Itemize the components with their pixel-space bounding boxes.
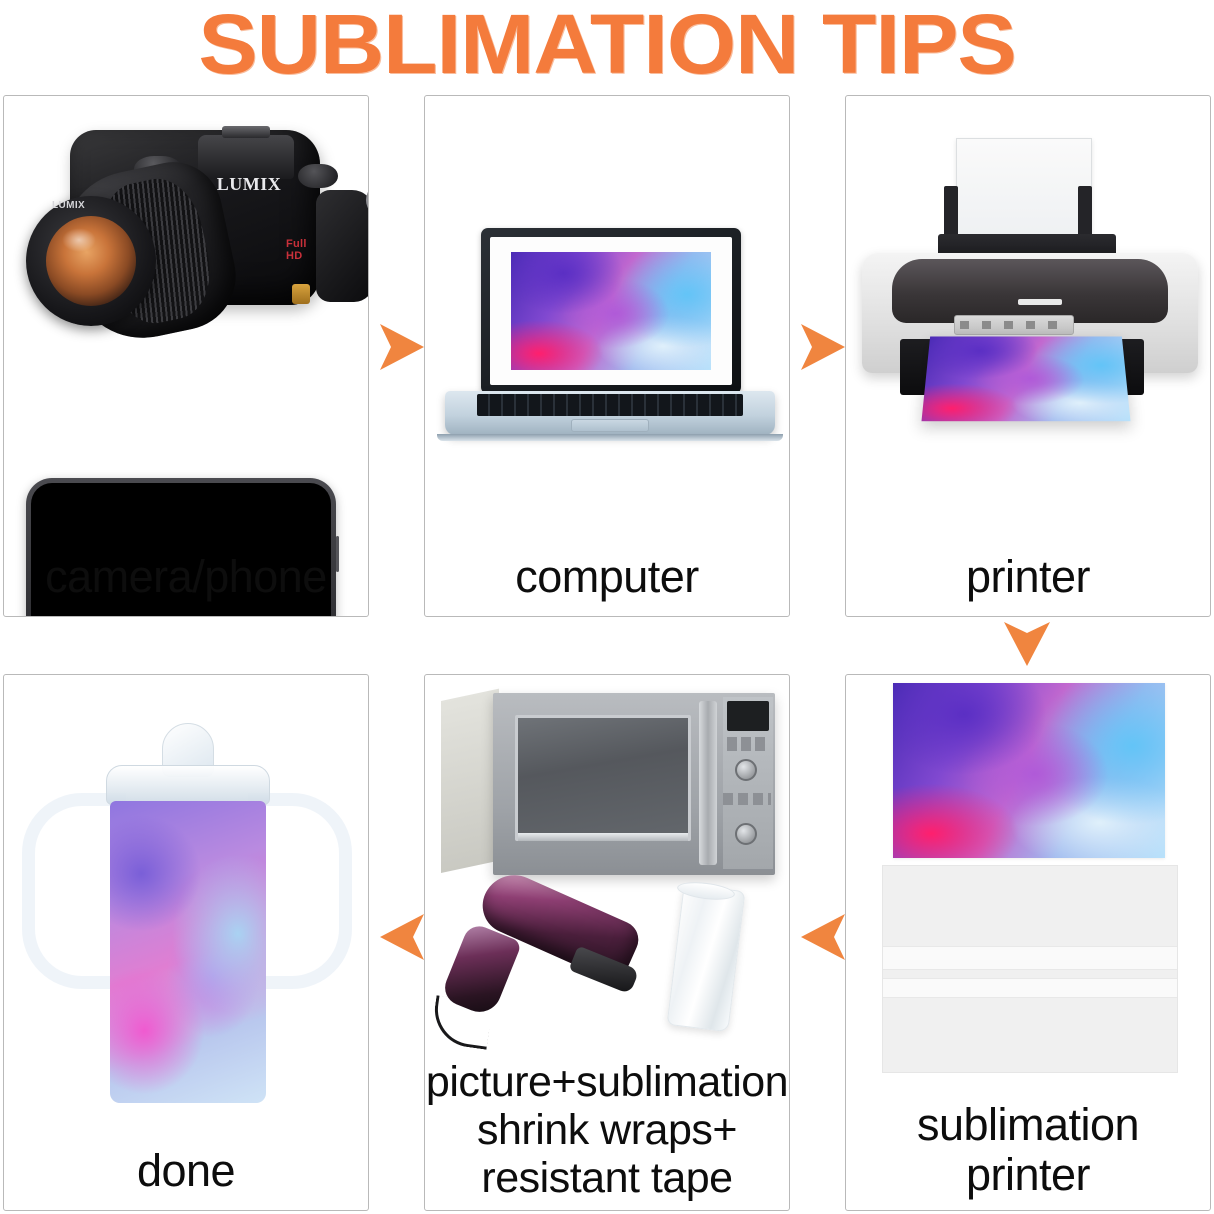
caption-supplies-line-1: picture+sublimation	[425, 1058, 789, 1106]
camera-hotshoe	[222, 126, 270, 138]
shrink-wrap-sleeve	[667, 884, 746, 1032]
step-panel-computer: computer	[424, 95, 790, 617]
camera-lens: LUMIX	[22, 166, 232, 348]
caption-printer: printer	[846, 552, 1210, 602]
microwave-side	[441, 689, 499, 873]
arrow-right-icon	[799, 320, 847, 374]
microwave-keypad-top	[727, 737, 769, 751]
caption-supplies: picture+sublimation shrink wraps+ resist…	[425, 1058, 789, 1202]
caption-supplies-line-2: shrink wraps+	[425, 1106, 789, 1154]
lens-front-element-housing: LUMIX	[26, 196, 156, 326]
laptop-illustration	[435, 228, 781, 468]
step-panel-done: done	[3, 674, 369, 1211]
flow-arrow-right-1	[378, 320, 426, 374]
hair-dryer-cord	[430, 995, 493, 1049]
caption-sublimation-line-1: sublimation	[846, 1100, 1210, 1150]
sippy-cup-illustration	[16, 723, 358, 1123]
step-panel-supplies: picture+sublimation shrink wraps+ resist…	[424, 674, 790, 1211]
laptop-front-edge	[437, 434, 783, 441]
cup-body	[110, 801, 266, 1103]
printer-control-buttons	[960, 321, 1068, 329]
arrow-left-icon	[378, 910, 426, 964]
printer-top-cover	[892, 259, 1168, 323]
cup-sublimated-artwork	[110, 801, 266, 1103]
lens-glass	[46, 216, 136, 306]
caption-computer: computer	[425, 552, 789, 602]
page-title: SUBLIMATION TIPS	[0, 2, 1214, 86]
step-panel-printer: printer	[845, 95, 1211, 617]
caption-supplies-line-3: resistant tape	[425, 1154, 789, 1202]
screen-artwork	[511, 252, 712, 370]
microwave-door-window	[515, 715, 691, 841]
sublimation-printed-sheet	[893, 683, 1165, 858]
dslr-camera-illustration: LUMIX GH2 Full HD LUMIX	[12, 108, 362, 376]
laptop-keyboard	[477, 394, 743, 416]
caption-sublimation-printer: sublimation printer	[846, 1100, 1210, 1200]
camera-grip	[316, 190, 369, 302]
microwave-display	[727, 701, 769, 731]
arrow-down-icon	[1000, 620, 1054, 668]
hair-dryer-illustration	[451, 887, 651, 1035]
laptop-screen	[490, 237, 732, 385]
flow-arrow-down-1	[1000, 620, 1054, 668]
printer-illustration	[860, 138, 1200, 498]
microwave-front	[493, 693, 775, 875]
paper-stack-seam-1	[883, 946, 1177, 970]
flow-arrow-left-1	[378, 910, 426, 964]
shrink-wrap-illustration	[669, 881, 747, 1037]
printer-indicator-slot	[1018, 299, 1062, 305]
laptop-trackpad	[571, 419, 649, 432]
flow-arrow-right-2	[799, 320, 847, 374]
microwave-oven-illustration	[441, 693, 775, 883]
step-panel-sublimation-printer: sublimation printer	[845, 674, 1211, 1211]
arrow-left-icon	[799, 910, 847, 964]
caption-done: done	[4, 1146, 368, 1196]
flow-arrow-left-2	[799, 910, 847, 964]
microwave-knob-lower	[735, 823, 757, 845]
microwave-door-handle	[699, 701, 717, 865]
arrow-right-icon	[378, 320, 426, 374]
caption-sublimation-line-2: printer	[846, 1150, 1210, 1200]
microwave-keypad-lower	[723, 793, 771, 805]
step-panel-camera-phone: LUMIX GH2 Full HD LUMIX camera/phone	[3, 95, 369, 617]
cup-lid	[106, 765, 270, 805]
microwave-knob-upper	[735, 759, 757, 781]
laptop-lid	[481, 228, 741, 394]
camera-gold-badge	[292, 284, 310, 304]
sublimation-paper-stack	[882, 865, 1178, 1073]
paper-stack-seam-2	[883, 978, 1177, 998]
printed-sheet-artwork	[921, 336, 1130, 421]
caption-camera-phone: camera/phone	[4, 552, 368, 602]
camera-secondary-dial	[298, 164, 338, 188]
lens-brand-label: LUMIX	[52, 200, 85, 211]
camera-fullhd-badge: Full HD	[286, 238, 320, 262]
